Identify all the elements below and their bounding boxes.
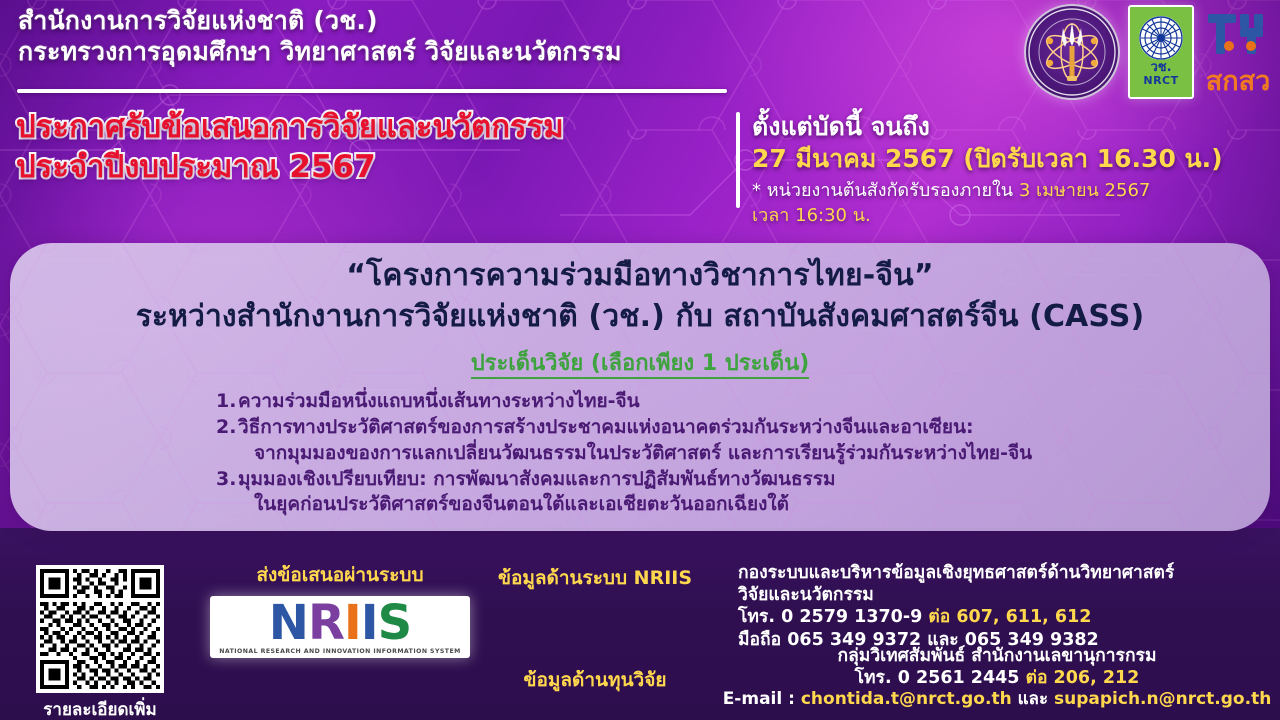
nriis-logo-icon[interactable]: NRIIS NATIONAL RESEARCH AND INNOVATION I…: [210, 596, 470, 658]
contact1-org-line-2: วิจัยและนวัตกรรม: [738, 584, 1278, 606]
list-item-main: วิธีการทางประวัติศาสตร์ของการสร้างประชาค…: [238, 416, 974, 438]
project-title-line-2: ระหว่างสำนักงานการวิจัยแห่งชาติ (วช.) กั…: [36, 298, 1244, 336]
contact-labels: ข้อมูลด้านระบบ NRIIS ข้อมูลด้านทุนวิจัย: [470, 563, 720, 695]
contact2-tel-number: โทร. 0 2561 2445: [855, 668, 1026, 688]
contact2-email-row: E-mail : chontida.t@nrct.go.th และ supap…: [714, 689, 1280, 711]
header-line-2: กระทรวงการอุดมศึกษา วิทยาศาสตร์ วิจัยและ…: [18, 37, 738, 68]
project-title-line-1: “โครงการความร่วมมือทางวิชาการไทย-จีน”: [36, 257, 1244, 295]
contact1-telephone: โทร. 0 2579 1370-9 ต่อ 607, 611, 612: [738, 606, 1278, 628]
contact2-email-label: E-mail :: [723, 689, 801, 709]
list-item-main: มุมมองเชิงเปรียบเทียบ: การพัฒนาสังคมและก…: [238, 468, 835, 490]
list-item-number: 2.: [216, 415, 238, 466]
nriis-letter-r: R: [308, 595, 344, 651]
research-topics-subtitle-text: ประเด็นวิจัย (เลือกเพียง 1 ประเด็น): [471, 351, 810, 379]
list-item: 3. มุมมองเชิงเปรียบเทียบ: การพัฒนาสังคมแ…: [216, 467, 1244, 518]
list-item-text: มุมมองเชิงเปรียบเทียบ: การพัฒนาสังคมและก…: [238, 467, 1244, 518]
nrct-wheel-icon: [1139, 16, 1183, 60]
header-line-1: สำนักงานการวิจัยแห่งชาติ (วช.): [18, 6, 738, 37]
contact1-tel-number: โทร. 0 2579 1370-9: [738, 607, 928, 627]
contact2-telephone: โทร. 0 2561 2445 ต่อ 206, 212: [714, 667, 1280, 689]
qr-code-image[interactable]: [36, 565, 164, 693]
ipst-logo-icon: สกสว: [1202, 6, 1274, 98]
nriis-logo-tagline: NATIONAL RESEARCH AND INNOVATION INFORMA…: [219, 648, 461, 655]
deadline-divider: [736, 112, 740, 208]
contact2-email-conjunction: และ: [1012, 689, 1054, 709]
announcement-title: ประกาศรับข้อเสนอการวิจัยและนวัตกรรม ประจ…: [16, 108, 726, 187]
contact2-email-1[interactable]: chontida.t@nrct.go.th: [801, 689, 1012, 709]
nriis-submit-caption: ส่งข้อเสนอผ่านระบบ: [195, 560, 485, 590]
contact1-org-line-1: กองระบบและบริหารข้อมูลเชิงยุทธศาสตร์ด้าน…: [738, 562, 1278, 584]
nriis-logo-letters: NRIIS: [219, 600, 461, 647]
ipst-label: สกสว: [1206, 66, 1270, 97]
deadline-note-highlight: 3 เมษายน 2567: [1019, 180, 1151, 201]
contact-block-fund: กลุ่มวิเทศสัมพันธ์ สำนักงานเลขานุการกรม …: [714, 645, 1280, 711]
list-item-number: 3.: [216, 467, 238, 518]
list-item: 2. วิธีการทางประวัติศาสตร์ของการสร้างประ…: [216, 415, 1244, 466]
contact2-email-2[interactable]: supapich.n@nrct.go.th: [1054, 689, 1271, 709]
list-item-continuation: ในยุคก่อนประวัติศาสตร์ของจีนตอนใต้และเอเ…: [238, 492, 1244, 517]
deadline-block: ตั้งแต่บัดนี้ จนถึง 27 มีนาคม 2567 (ปิดร…: [752, 112, 1272, 227]
research-topics-list: 1. ความร่วมมือหนึ่งแถบหนึ่งเส้นทางระหว่า…: [216, 389, 1244, 517]
contact1-tel-extension: ต่อ 607, 611, 612: [928, 607, 1091, 627]
research-topics-subtitle: ประเด็นวิจัย (เลือกเพียง 1 ประเด็น): [36, 345, 1244, 380]
deadline-note-line-2: เวลา 16:30 น.: [752, 204, 1272, 227]
label-fund-info: ข้อมูลด้านทุนวิจัย: [470, 665, 720, 695]
deadline-note: * หน่วยงานต้นสังกัดรับรองภายใน 3 เมษายน …: [752, 179, 1272, 204]
qr-code-caption: รายละเอียดเพิ่มเติม: [32, 696, 168, 720]
header-agency: สำนักงานการวิจัยแห่งชาติ (วช.) กระทรวงกา…: [18, 6, 738, 67]
logo-group: วช. NRCT สกสว: [1024, 4, 1274, 100]
list-item-text: ความร่วมมือหนึ่งแถบหนึ่งเส้นทางระหว่างไท…: [238, 389, 1244, 414]
nriis-letter-i2: I: [361, 595, 378, 651]
contact2-tel-extension: ต่อ 206, 212: [1026, 668, 1140, 688]
mhesi-logo-icon: [1024, 4, 1120, 100]
contact-block-system: กองระบบและบริหารข้อมูลเชิงยุทธศาสตร์ด้าน…: [738, 562, 1278, 651]
header-divider: [17, 89, 727, 93]
deadline-note-prefix: * หน่วยงานต้นสังกัดรับรองภายใน: [752, 180, 1019, 201]
contact2-org-line-1: กลุ่มวิเทศสัมพันธ์ สำนักงานเลขานุการกรม: [714, 645, 1280, 667]
deadline-line-2: 27 มีนาคม 2567 (ปิดรับเวลา 16.30 น.): [752, 143, 1272, 176]
nriis-letter-s: S: [378, 595, 412, 651]
nrct-label-th: วช.: [1150, 61, 1171, 74]
list-item-number: 1.: [216, 389, 238, 414]
list-item-continuation: จากมุมมองของการแลกเปลี่ยนวัฒนธรรมในประวั…: [238, 441, 1244, 466]
list-item: 1. ความร่วมมือหนึ่งแถบหนึ่งเส้นทางระหว่า…: [216, 389, 1244, 414]
poster-root: สำนักงานการวิจัยแห่งชาติ (วช.) กระทรวงกา…: [0, 0, 1280, 720]
deadline-line-1: ตั้งแต่บัดนี้ จนถึง: [752, 112, 1272, 143]
nrct-logo-icon: วช. NRCT: [1128, 5, 1194, 99]
announcement-line-2: ประจำปีงบประมาณ 2567: [16, 148, 726, 188]
nrct-label-en: NRCT: [1143, 75, 1178, 87]
nriis-letter-i1: I: [344, 595, 361, 651]
nriis-block: ส่งข้อเสนอผ่านระบบ NRIIS NATIONAL RESEAR…: [195, 560, 485, 658]
label-system-info: ข้อมูลด้านระบบ NRIIS: [470, 563, 720, 593]
nriis-letter-n: N: [269, 595, 308, 651]
announcement-line-1: ประกาศรับข้อเสนอการวิจัยและนวัตกรรม: [16, 108, 726, 148]
list-item-text: วิธีการทางประวัติศาสตร์ของการสร้างประชาค…: [238, 415, 1244, 466]
main-content-panel: “โครงการความร่วมมือทางวิชาการไทย-จีน” ระ…: [10, 243, 1270, 531]
qr-code-block[interactable]: รายละเอียดเพิ่มเติม: [36, 565, 168, 720]
